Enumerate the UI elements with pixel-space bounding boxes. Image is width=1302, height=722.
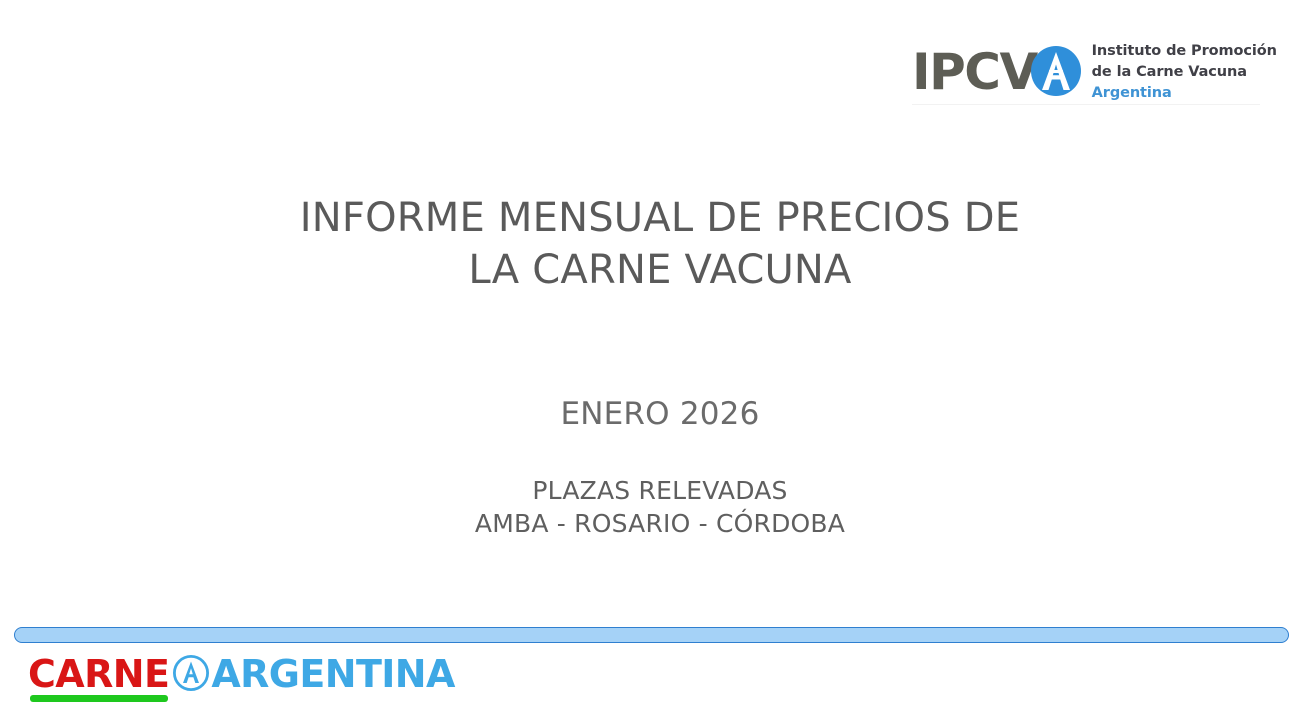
green-underline-stroke xyxy=(30,695,168,702)
ipcva-circled-a-icon xyxy=(1030,45,1082,97)
plazas-list: AMBA - ROSARIO - CÓRDOBA xyxy=(18,507,1302,540)
ipcva-tagline: Instituto de Promoción de la Carne Vacun… xyxy=(1092,39,1277,102)
ipcva-logo: IPCV Instituto de Promoción de la Carne … xyxy=(912,35,1262,107)
ipcva-wordmark: IPCV xyxy=(912,47,1037,97)
carne-word-wrap: CARNE xyxy=(28,655,169,693)
plazas-heading: PLAZAS RELEVADAS xyxy=(18,474,1302,507)
slide-canvas: IPCV Instituto de Promoción de la Carne … xyxy=(0,0,1302,722)
ipcva-tagline-line-2: de la Carne Vacuna xyxy=(1092,64,1247,80)
title-block: INFORME MENSUAL DE PRECIOS DE LA CARNE V… xyxy=(0,193,1302,296)
report-period: ENERO 2026 xyxy=(18,396,1302,433)
carne-circled-a-icon xyxy=(172,654,210,692)
ipcva-tagline-line-1: Instituto de Promoción xyxy=(1092,43,1277,59)
date-block: ENERO 2026 xyxy=(0,396,1302,433)
carne-word: CARNE xyxy=(28,655,169,693)
logo-bottom-hairline xyxy=(912,104,1260,105)
plazas-block: PLAZAS RELEVADAS AMBA - ROSARIO - CÓRDOB… xyxy=(0,474,1302,540)
argentina-word: ARGENTINA xyxy=(211,655,455,693)
carne-argentina-logo: CARNE ARGENTINA xyxy=(28,655,455,705)
blue-divider-bar xyxy=(14,627,1289,643)
page-title: INFORME MENSUAL DE PRECIOS DE LA CARNE V… xyxy=(18,193,1302,296)
ipcva-tagline-line-3: Argentina xyxy=(1092,85,1172,101)
